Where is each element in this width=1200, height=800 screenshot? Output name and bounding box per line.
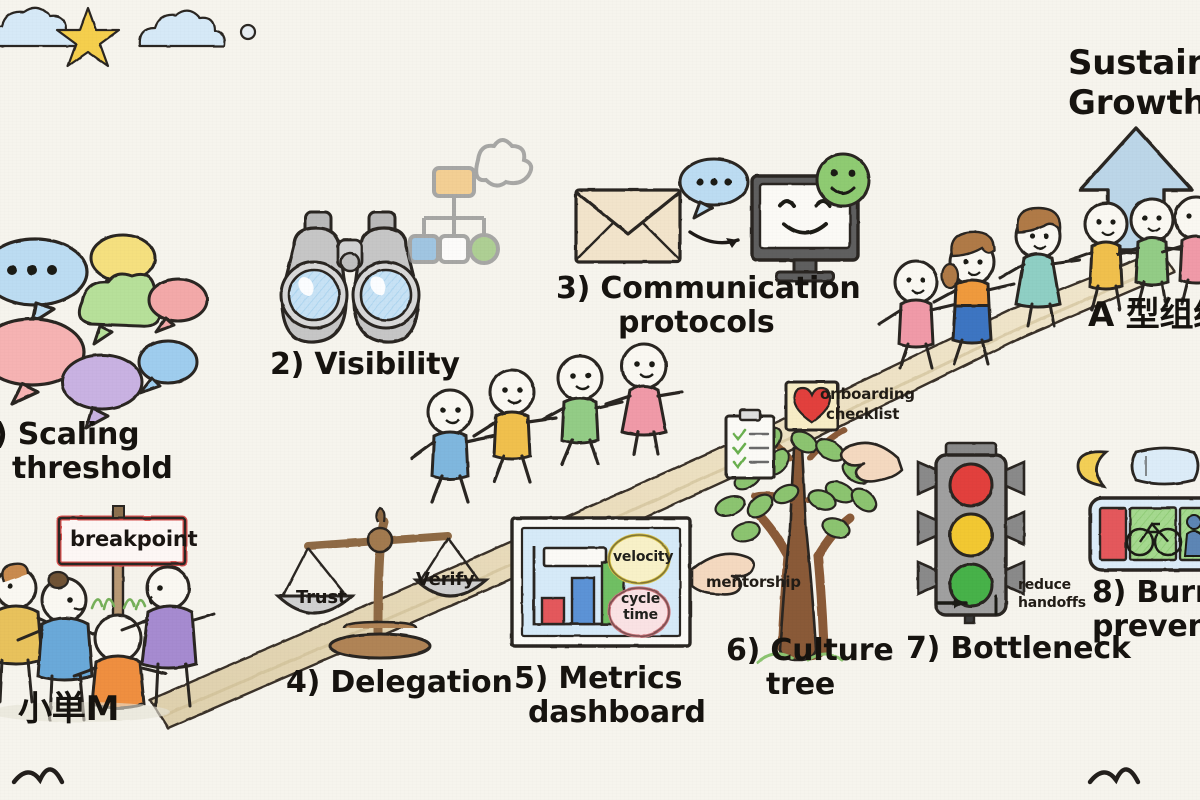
breakpoint-sign-label: breakpoint xyxy=(70,528,197,552)
envelope-icon xyxy=(576,190,680,262)
scale-right-pan-label: Verify xyxy=(416,570,475,590)
step-4-label: 4) Delegation xyxy=(286,666,513,700)
reduce-handoffs-label-line1: reduce xyxy=(1018,578,1071,594)
a-type-org-cjk-label: A 型组绉 xyxy=(1088,296,1200,334)
step-8-label-line2: preven xyxy=(1092,610,1200,644)
step-2-label: 2) Visibility xyxy=(270,348,460,382)
metric-badge-velocity: velocity xyxy=(613,550,673,566)
reduce-handoffs-label-line2: handoffs xyxy=(1018,596,1086,612)
smiley-face-icon xyxy=(817,154,869,206)
bar-chart-dashboard-icon xyxy=(512,518,690,646)
dot-icon xyxy=(241,25,255,39)
step-1-label-line2: threshold xyxy=(12,452,173,486)
battery-rest-icon xyxy=(1090,498,1200,570)
step-1-label-line1: ) Scaling xyxy=(0,418,139,452)
step-5-label-line2: dashboard xyxy=(528,696,706,730)
onboarding-checklist-label-line1: onboarding xyxy=(820,386,915,403)
mentorship-label: mentorship xyxy=(706,574,801,591)
onboarding-checklist-label-line2: checklist xyxy=(826,406,899,423)
step-8-label-line1: 8) Burno xyxy=(1092,576,1200,610)
step-6-label-line1: 6) Culture xyxy=(726,634,894,668)
scale-left-pan-label: Trust xyxy=(296,588,346,608)
headline-line1: Sustaina xyxy=(1068,44,1200,82)
small-team-cjk-label: 小単M xyxy=(18,690,119,728)
metric-badge-cycle-time: cycle time xyxy=(621,592,660,623)
pillow-icon xyxy=(1132,448,1198,484)
step-5-label-line1: 5) Metrics xyxy=(514,662,682,696)
step-6-label-line2: tree xyxy=(766,668,835,702)
step-3-label-line2: protocols xyxy=(618,306,775,340)
headline-line2: Growth xyxy=(1068,84,1200,122)
step-3-label-line1: 3) Communication xyxy=(556,272,861,306)
